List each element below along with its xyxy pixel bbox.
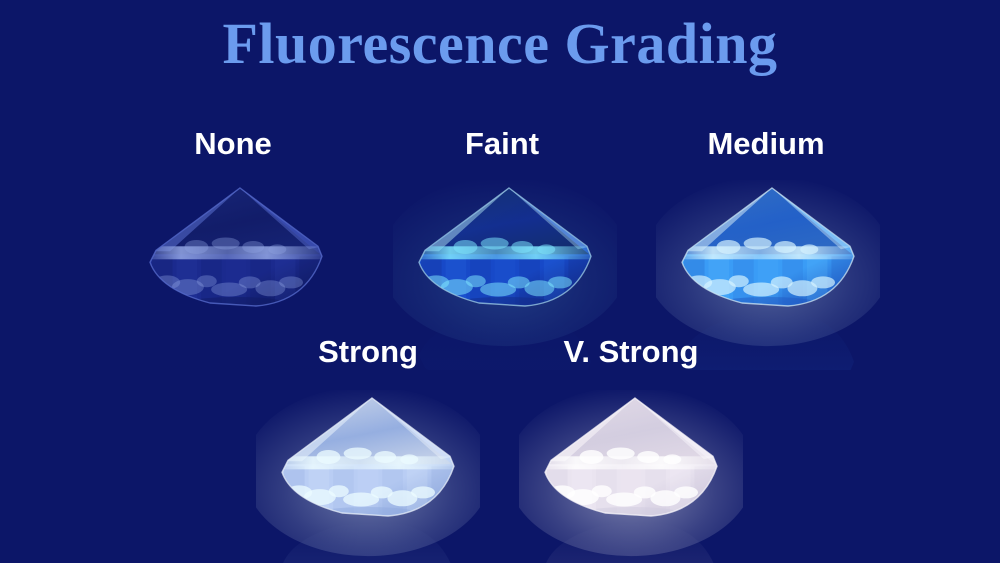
page-title: Fluorescence Grading <box>0 14 1000 75</box>
slide-canvas: Fluorescence Grading NoneFaintMediumStro… <box>0 0 1000 563</box>
diamond-v-strong <box>519 390 743 563</box>
grade-label-faint: Faint <box>465 126 539 162</box>
diamond-none <box>124 180 348 370</box>
grade-label-strong: Strong <box>318 334 418 370</box>
diamond-strong <box>256 390 480 563</box>
grade-label-medium: Medium <box>707 126 824 162</box>
grade-label-v-strong: V. Strong <box>564 334 699 370</box>
grade-label-none: None <box>194 126 272 162</box>
